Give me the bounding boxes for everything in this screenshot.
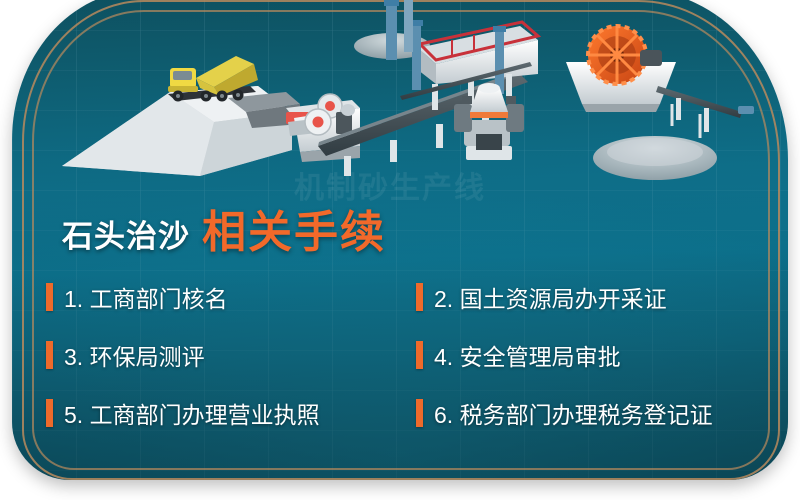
orange-bar-icon	[416, 399, 423, 427]
list-item: 1. 工商部门核名	[46, 268, 402, 326]
list-item-label: 2. 国土资源局办开采证	[434, 280, 667, 314]
list-item-label: 3. 环保局测评	[64, 338, 205, 372]
list-item-label: 4. 安全管理局审批	[434, 338, 621, 372]
infographic-canvas: 机制砂生产线 石头治沙 相关手续 1. 工商部门核名 2. 国土资源局办开采证 …	[0, 0, 800, 500]
orange-bar-icon	[46, 341, 53, 369]
orange-bar-icon	[416, 283, 423, 311]
list-item: 2. 国土资源局办开采证	[402, 268, 758, 326]
orange-bar-icon	[46, 399, 53, 427]
discharge-conveyor	[656, 86, 754, 138]
orange-bar-icon	[416, 341, 423, 369]
title-primary: 石头治沙	[62, 211, 190, 256]
list-item-label: 6. 税务部门办理税务登记证	[434, 396, 713, 430]
title-accent: 相关手续	[202, 196, 386, 260]
list-item: 3. 环保局测评	[46, 326, 402, 384]
list-item: 4. 安全管理局审批	[402, 326, 758, 384]
procedure-list: 1. 工商部门核名 2. 国土资源局办开采证 3. 环保局测评 4. 安全管理局…	[46, 268, 758, 442]
list-item-label: 1. 工商部门核名	[64, 280, 228, 314]
list-item: 5. 工商部门办理营业执照	[46, 384, 402, 442]
wheel-sand-washer	[566, 26, 676, 112]
orange-bar-icon	[46, 283, 53, 311]
list-item-label: 5. 工商部门办理营业执照	[64, 396, 320, 430]
page-title: 石头治沙 相关手续	[62, 196, 386, 252]
list-item: 6. 税务部门办理税务登记证	[402, 384, 758, 442]
